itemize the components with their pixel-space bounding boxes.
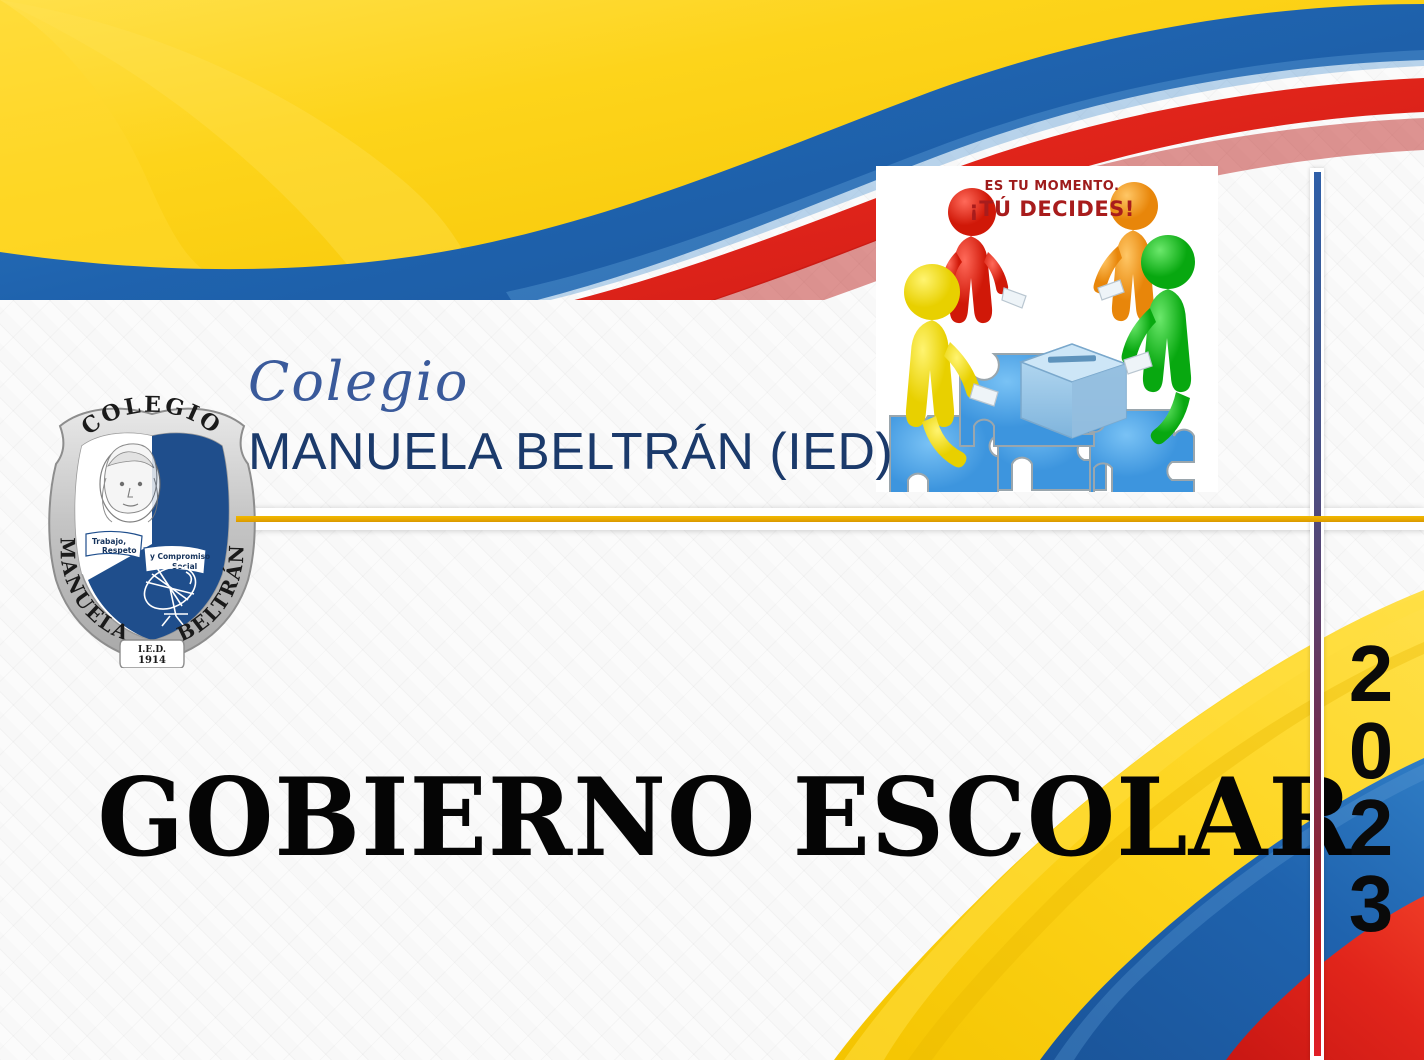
crest-footer-year: 1914	[138, 655, 166, 666]
crest-banner-text-2: Respeto	[102, 546, 137, 555]
crest-banner-text-1: Trabajo,	[92, 537, 126, 546]
crest-banner-right: y Compromiso Social	[144, 545, 210, 574]
voting-illustration: ES TU MOMENTO. ¡TÚ DECIDES!	[876, 166, 1218, 492]
illustration-headline-2: ¡TÚ DECIDES!	[969, 196, 1135, 221]
school-name-heading: MANUELA BELTRÁN (IED)	[248, 425, 893, 480]
crest-footer-code: I.E.D.	[138, 645, 166, 655]
year-digit-1: 2	[1336, 636, 1406, 713]
presentation-slide: ES TU MOMENTO. ¡TÚ DECIDES!	[0, 0, 1424, 1060]
year-vertical-stack: 2 0 2 3	[1336, 636, 1406, 943]
crest-banner-left: Trabajo, Respeto	[86, 531, 142, 558]
year-digit-4: 3	[1336, 866, 1406, 943]
illustration-headline-1: ES TU MOMENTO.	[985, 179, 1120, 194]
gold-horizontal-rule	[236, 516, 1424, 522]
vertical-divider-bar	[1314, 172, 1321, 1056]
school-crest-logo: Trabajo, Respeto y Compromiso Social COL…	[30, 392, 274, 668]
crest-banner-text-3: y Compromiso	[150, 552, 210, 561]
slide-main-title: GOBIERNO ESCOLAR	[97, 764, 1206, 872]
colegio-script-label: Colegio	[248, 355, 893, 409]
year-digit-3: 2	[1336, 790, 1406, 867]
year-digit-2: 0	[1336, 713, 1406, 790]
school-identity-block: Colegio MANUELA BELTRÁN (IED)	[248, 355, 893, 480]
